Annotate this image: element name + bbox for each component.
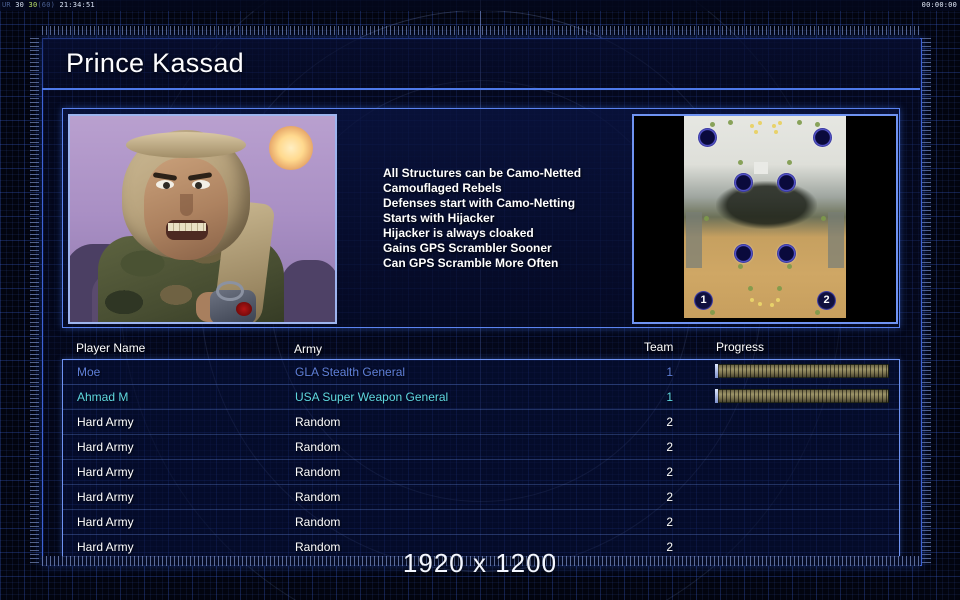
cell-player-name: Hard Army [77,515,134,529]
cell-player-name: Hard Army [77,490,134,504]
ruler-right [922,38,931,564]
device-ring [216,281,244,301]
map-player-slot-1: 1 [694,291,713,310]
game-timer: 00:00:00 [922,1,957,10]
sun-glow [269,126,313,170]
eye-right [192,180,210,189]
map-start-position [734,244,753,263]
bonus-line: Hijacker is always cloaked [383,226,633,241]
cell-team: 2 [645,415,673,429]
bonus-line: Gains GPS Scrambler Sooner [383,241,633,256]
mouth [166,220,208,240]
cell-team: 2 [645,490,673,504]
player-table-header: Player Name Army Team Progress [62,338,898,358]
table-row[interactable]: Hard ArmyRandom2 [63,485,899,510]
net-value-1: 30 [15,1,24,9]
table-row[interactable]: Hard ArmyRandom2 [63,460,899,485]
eye-left [156,180,174,189]
network-stats: UR 30 30(60) 21:34:51 [2,1,95,10]
cell-army: Random [295,465,340,479]
progress-cap [715,389,718,403]
map-start-position [777,173,796,192]
map-terrain: 1 2 [684,116,846,318]
table-row[interactable]: Hard ArmyRandom2 [63,435,899,460]
pupil-left [163,182,170,189]
cell-army: GLA Stealth General [295,365,405,379]
bonus-line: All Structures can be Camo-Netted [383,166,633,181]
resolution-label: 1920 x 1200 [0,548,960,579]
cell-army: USA Super Weapon General [295,390,448,404]
handheld-device [210,290,256,324]
cell-team: 2 [645,440,673,454]
keffiyeh-band [126,132,246,158]
net-prefix: UR [2,1,11,9]
cell-army: Random [295,440,340,454]
table-row[interactable]: Hard ArmyRandom2 [63,510,899,535]
face [144,158,228,260]
table-row[interactable]: Hard ArmyRandom2 [63,410,899,435]
bonus-line: Can GPS Scramble More Often [383,256,633,271]
top-status-bar: UR 30 30(60) 21:34:51 00:00:00 [0,0,960,11]
cell-progress [717,364,889,378]
cell-army: Random [295,490,340,504]
col-header-team: Team [644,340,673,354]
map-start-position [777,244,796,263]
col-header-player-name: Player Name [76,341,145,355]
cell-player-name: Hard Army [77,415,134,429]
pupil-right [195,182,202,189]
table-row[interactable]: Ahmad MUSA Super Weapon General1 [63,385,899,410]
ruler-left [30,38,39,564]
device-red-light [236,302,252,316]
map-center-shadow [716,181,816,229]
map-rock-right [828,212,844,268]
progress-bar [717,364,889,378]
game-screen: UR 30 30(60) 21:34:51 00:00:00 Prince Ka… [0,0,960,600]
net-value-3: (60) [37,1,55,9]
progress-bar [717,389,889,403]
map-start-position [698,128,717,147]
teeth [168,223,206,231]
progress-cap [715,364,718,378]
cell-team: 1 [645,365,673,379]
col-header-progress: Progress [716,340,764,354]
map-rock-left [686,212,702,268]
cell-player-name: Moe [77,365,100,379]
map-start-position [734,173,753,192]
cell-progress [717,389,889,403]
cell-player-name: Ahmad M [77,390,128,404]
nose [180,194,193,216]
page-title: Prince Kassad [66,48,244,79]
net-clock: 21:34:51 [59,1,94,9]
cell-team: 2 [645,515,673,529]
bonus-line: Defenses start with Camo-Netting [383,196,633,211]
general-bonus-list: All Structures can be Camo-Netted Camouf… [383,166,633,271]
map-player-slot-2: 2 [817,291,836,310]
map-preview[interactable]: 1 2 [632,114,898,324]
map-start-position [813,128,832,147]
cell-team: 2 [645,465,673,479]
ruler-top [42,26,920,35]
bonus-line: Camouflaged Rebels [383,181,633,196]
general-portrait [68,114,337,324]
cell-team: 1 [645,390,673,404]
cell-player-name: Hard Army [77,465,134,479]
cell-player-name: Hard Army [77,440,134,454]
bonus-line: Starts with Hijacker [383,211,633,226]
cell-army: Random [295,515,340,529]
bush-right [281,260,337,322]
cell-army: Random [295,415,340,429]
map-rock-center [754,162,768,174]
player-table: MoeGLA Stealth General1Ahmad MUSA Super … [62,359,900,557]
col-header-army: Army [294,342,322,356]
table-row[interactable]: MoeGLA Stealth General1 [63,360,899,385]
